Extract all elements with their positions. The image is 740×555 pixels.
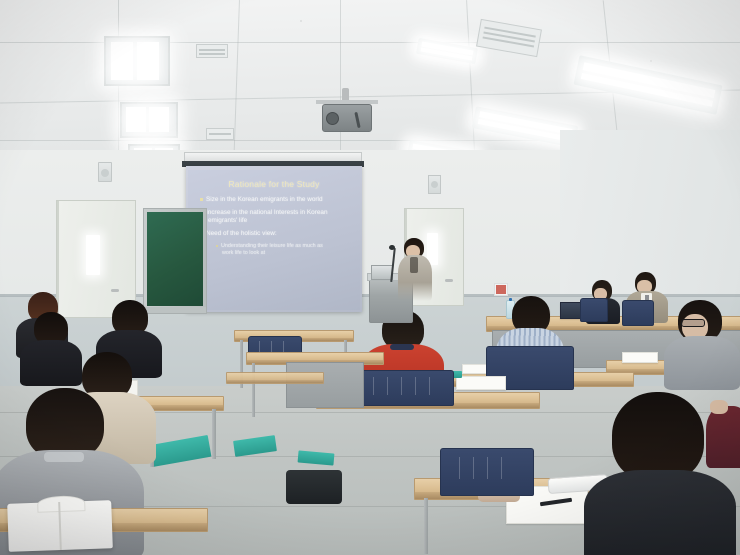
lecture-hall-photo: Rationale for the Study Size in the Kore… <box>0 0 740 555</box>
air-vent <box>196 44 228 58</box>
wall-speaker-icon <box>98 162 112 182</box>
head <box>612 392 704 482</box>
chair[interactable] <box>356 370 454 406</box>
hand <box>710 400 728 414</box>
papers <box>456 376 506 390</box>
slide-bullet: Size in the Korean emigrants in the worl… <box>200 196 358 204</box>
chalkboard-surface <box>147 212 203 306</box>
door-handle[interactable] <box>111 289 119 292</box>
air-vent <box>206 128 234 140</box>
slide-bullet: Increase in the national Interests in Ko… <box>200 209 358 217</box>
papers <box>622 352 658 363</box>
glasses-icon <box>681 319 705 327</box>
slide-subbullet: Understanding their leisure life as much… <box>216 243 358 250</box>
slide-title: Rationale for the Study <box>188 179 360 189</box>
wall-speaker-icon <box>428 175 441 194</box>
presenter-lapel <box>410 257 418 273</box>
slide-subbullet-continuation: work life to look at <box>222 250 358 257</box>
projector-lens <box>326 112 339 125</box>
linear-fluorescent-light <box>573 55 722 115</box>
chair[interactable] <box>622 300 654 326</box>
desk <box>226 372 324 384</box>
bullet-dot-icon <box>216 245 218 247</box>
desk-modesty-panel <box>286 362 364 408</box>
recessed-panel-light <box>120 102 178 138</box>
chalkboard <box>143 208 207 314</box>
desk-leg <box>424 498 428 554</box>
attendee-maroon-right-edge <box>706 396 740 466</box>
backpack-black <box>286 470 342 504</box>
page-curl <box>37 495 86 513</box>
door-window-pane <box>86 235 100 275</box>
torso <box>706 406 740 468</box>
bullet-dot-icon <box>200 198 203 201</box>
torso <box>584 470 736 555</box>
chair[interactable] <box>580 298 608 322</box>
slide-bullet-continuation: emigrants' life <box>208 217 358 225</box>
door-handle[interactable] <box>445 279 453 282</box>
presentation-slide: Rationale for the Study Size in the Kore… <box>188 170 360 310</box>
collar <box>390 344 414 350</box>
open-booklet <box>7 500 113 552</box>
chair[interactable] <box>440 448 534 496</box>
attendee-glasses-man <box>664 300 740 386</box>
collar <box>44 452 84 462</box>
exit-sign <box>494 283 508 296</box>
slide-bullet: Need of the holistic view: <box>200 230 358 238</box>
desk-leg <box>212 409 216 459</box>
air-vent <box>476 19 542 57</box>
presenter <box>394 238 434 302</box>
projection-screen: Rationale for the Study Size in the Kore… <box>186 166 362 312</box>
recessed-panel-light <box>104 36 170 86</box>
torso <box>664 336 740 390</box>
